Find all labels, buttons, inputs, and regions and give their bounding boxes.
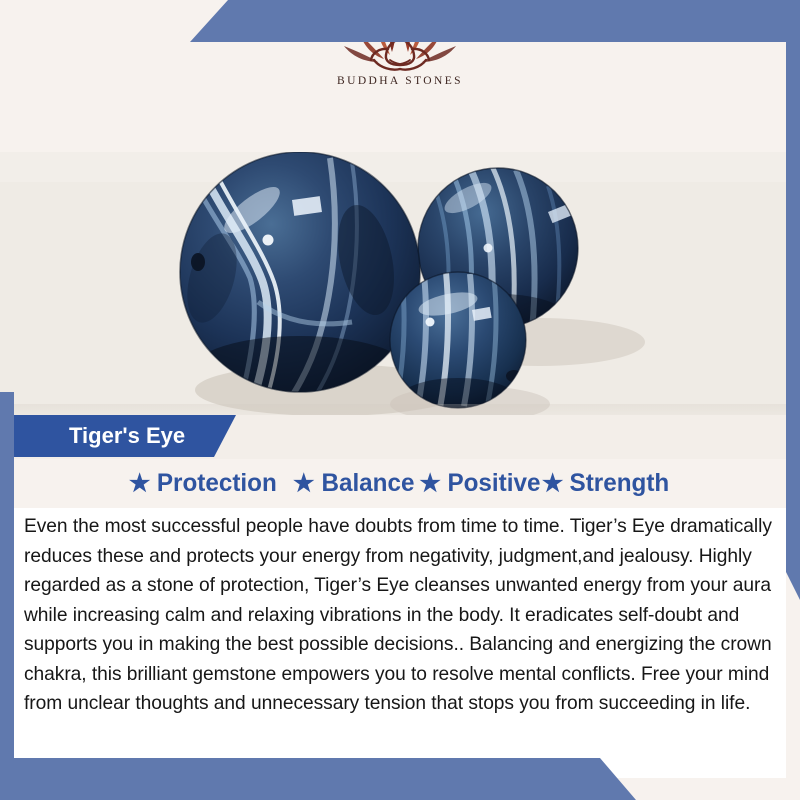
benefit-item-balance: ★ Balance [293,469,415,498]
benefit-label: Strength [570,469,670,498]
benefit-label: Positive [447,469,540,498]
benefit-item-protection: ★ Protection [129,469,279,498]
star-icon: ★ [542,472,564,496]
frame-accent-left [0,392,14,800]
stone-name: Tiger's Eye [14,423,185,449]
description-panel: Even the most successful people have dou… [14,508,786,778]
benefit-label: Balance [321,469,414,498]
frame-accent-bottom-left [0,758,640,800]
stone-photo [0,152,800,422]
benefit-item-strength: ★ Strength [542,469,671,498]
benefit-label: Protection [157,469,277,498]
star-icon: ★ [129,472,151,496]
frame-accent-right [786,0,800,600]
description-text: Even the most successful people have dou… [24,512,778,719]
star-icon: ★ [419,472,441,496]
brand-wordmark: BUDDHA STONES [337,75,463,87]
benefit-item-positive: ★ Positive [419,469,541,498]
benefits-row: ★ Protection ★ Balance ★ Positive ★ Stre… [0,459,800,508]
stone-name-banner: Tiger's Eye [14,415,236,457]
star-icon: ★ [293,472,315,496]
